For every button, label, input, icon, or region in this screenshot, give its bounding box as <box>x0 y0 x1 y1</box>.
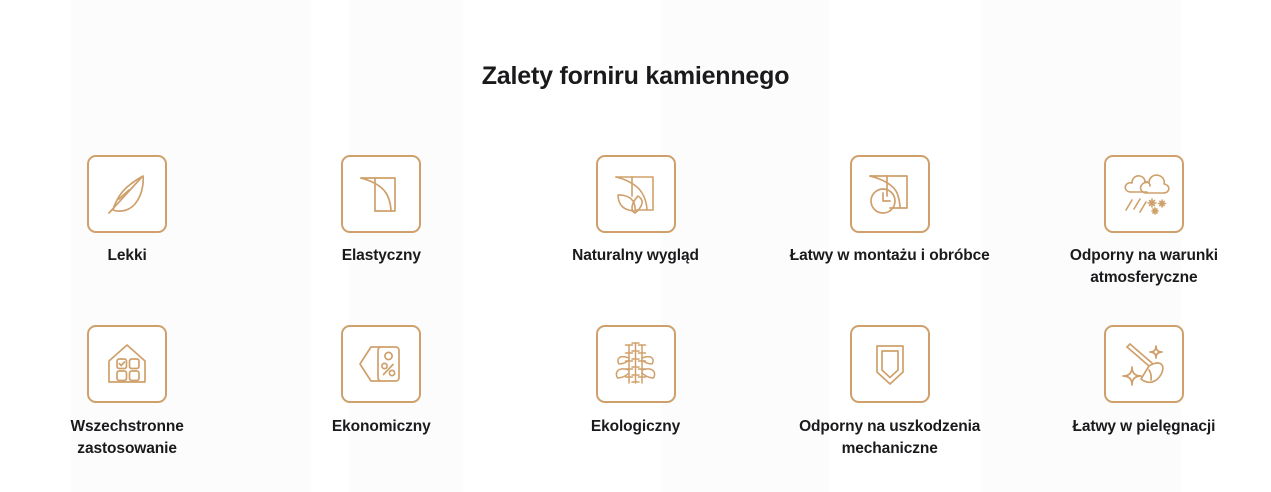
feature-item-ekonomiczny[interactable]: Ekonomiczny <box>254 325 508 492</box>
feature-label: Ekonomiczny <box>332 416 431 438</box>
feather-icon <box>87 155 167 233</box>
feature-item-ekologiczny[interactable]: Ekologiczny <box>508 325 762 492</box>
broom-sparkle-icon <box>1104 325 1184 403</box>
shield-icon <box>850 325 930 403</box>
feature-item-naturalny-wyglad[interactable]: Naturalny wygląd <box>508 155 762 325</box>
features-page: Zalety forniru kamiennego Lekki <box>0 0 1271 492</box>
feature-label: Wszechstronne zastosowanie <box>22 416 232 460</box>
page-title: Zalety forniru kamiennego <box>0 62 1271 91</box>
bending-sheet-icon <box>341 155 421 233</box>
feature-item-latwy-pielegnacja[interactable]: Łatwy w pielęgnacji <box>1017 325 1271 492</box>
clouds-rain-snow-icon <box>1104 155 1184 233</box>
feature-row: Lekki Elastyczny <box>0 155 1271 325</box>
feature-label: Ekologiczny <box>591 416 680 438</box>
bamboo-leaves-icon <box>596 325 676 403</box>
sheet-with-leaves-icon <box>596 155 676 233</box>
feature-item-wszechstronne[interactable]: Wszechstronne zastosowanie <box>0 325 254 492</box>
feature-label: Odporny na warunki atmosferyczne <box>1039 245 1249 289</box>
feature-item-odporny-warunki[interactable]: Odporny na warunki atmosferyczne <box>1017 155 1271 325</box>
feature-item-odporny-uszkodzenia[interactable]: Odporny na uszkodzenia mechaniczne <box>763 325 1017 492</box>
clock-sheet-icon <box>850 155 930 233</box>
feature-label: Naturalny wygląd <box>572 245 699 267</box>
feature-label: Odporny na uszkodzenia mechaniczne <box>785 416 995 460</box>
feature-label: Łatwy w pielęgnacji <box>1073 416 1216 438</box>
price-tags-percent-icon <box>341 325 421 403</box>
house-grid-check-icon <box>87 325 167 403</box>
features-grid: Lekki Elastyczny <box>0 155 1271 492</box>
feature-label: Elastyczny <box>342 245 421 267</box>
feature-row: Wszechstronne zastosowanie Ekonomiczny <box>0 325 1271 492</box>
feature-label: Łatwy w montażu i obróbce <box>790 245 990 267</box>
feature-item-latwy-montaz[interactable]: Łatwy w montażu i obróbce <box>763 155 1017 325</box>
feature-item-lekki[interactable]: Lekki <box>0 155 254 325</box>
feature-label: Lekki <box>108 245 147 267</box>
feature-item-elastyczny[interactable]: Elastyczny <box>254 155 508 325</box>
